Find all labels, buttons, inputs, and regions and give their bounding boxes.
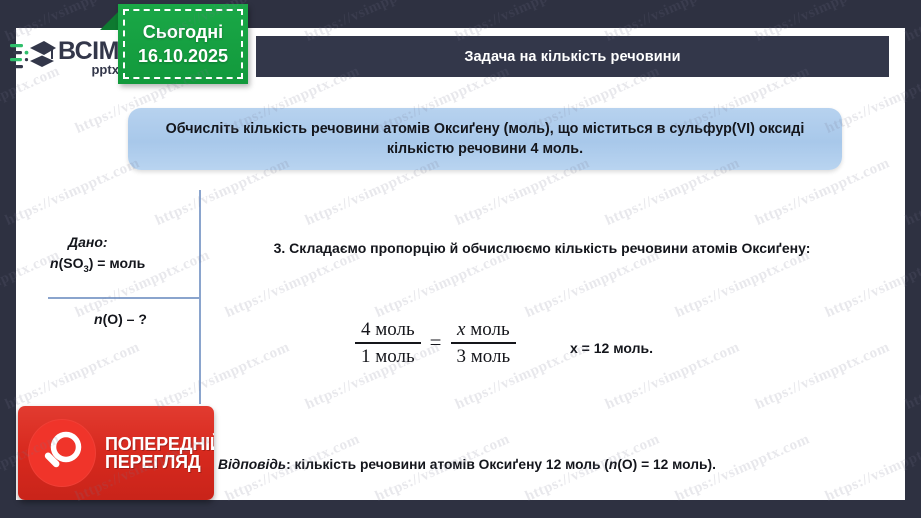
fraction-right-denominator: 3 моль [451, 344, 517, 368]
fraction-right: x моль 3 моль [451, 318, 517, 368]
magnifier-icon [28, 419, 96, 487]
logo-name: ВСІМ [58, 39, 119, 64]
answer-formula-rest: (O) = 12 моль). [617, 457, 716, 472]
given-horizontal-divider [48, 297, 200, 299]
fraction-left: 4 моль 1 моль [355, 318, 421, 368]
preview-badge-line1: ПОПЕРЕДНІЙ [105, 435, 214, 453]
graduation-cap-icon [10, 35, 56, 79]
today-badge-fold [100, 10, 120, 30]
logo-text: ВСІМ pptx [58, 39, 119, 76]
slide-header-bar: Задача на кількість речовини [256, 36, 889, 77]
solution-step-text: 3. Складаємо пропорцію й обчислюємо кіль… [238, 238, 846, 260]
proportion-equation: 4 моль 1 моль = x моль 3 моль [355, 318, 516, 368]
window-frame: Обчисліть кількість речовини атомів Окси… [0, 0, 921, 518]
answer-body: : кількість речовини атомів Оксиґену 12 … [286, 457, 609, 472]
answer-label: Відповідь [218, 457, 286, 472]
given-label: Дано: [68, 234, 108, 250]
preview-badge[interactable]: ПОПЕРЕДНІЙ ПЕРЕГЛЯД [18, 406, 214, 500]
fraction-left-denominator: 1 моль [355, 344, 421, 368]
brand-logo: ВСІМ pptx [8, 31, 120, 83]
today-badge-label: Сьогодні [143, 22, 223, 43]
given-block: Дано: n(SO3) = моль n(O) – ? [34, 186, 214, 406]
find-rest: (O) – ? [103, 311, 147, 327]
equals-sign: = [430, 330, 442, 355]
task-statement-text: Обчисліть кількість речовини атомів Окси… [128, 119, 842, 160]
preview-badge-text: ПОПЕРЕДНІЙ ПЕРЕГЛЯД [105, 435, 214, 472]
page-title: Задача на кількість речовини [464, 49, 680, 65]
unknown-variable: x [457, 319, 465, 340]
solution-result: x = 12 моль. [570, 340, 653, 356]
find-n-symbol: n [94, 311, 103, 327]
fraction-right-numerator-unit: моль [470, 319, 509, 340]
given-value: n(SO3) = моль [50, 255, 145, 275]
today-badge: Сьогодні 16.10.2025 [118, 4, 248, 84]
given-formula-open: (SO [59, 255, 84, 271]
fraction-right-numerator: x моль [451, 318, 516, 342]
given-n-symbol: n [50, 255, 59, 271]
today-badge-inner: Сьогодні 16.10.2025 [123, 9, 243, 79]
today-badge-date: 16.10.2025 [138, 46, 228, 67]
task-statement-box: Обчисліть кількість речовини атомів Окси… [128, 108, 842, 170]
fraction-left-numerator: 4 моль [355, 318, 421, 342]
preview-badge-line2: ПЕРЕГЛЯД [105, 453, 214, 471]
given-formula-close: ) = моль [89, 255, 146, 271]
answer-line: Відповідь: кількість речовини атомів Окс… [218, 457, 858, 472]
find-value: n(O) – ? [94, 311, 147, 327]
